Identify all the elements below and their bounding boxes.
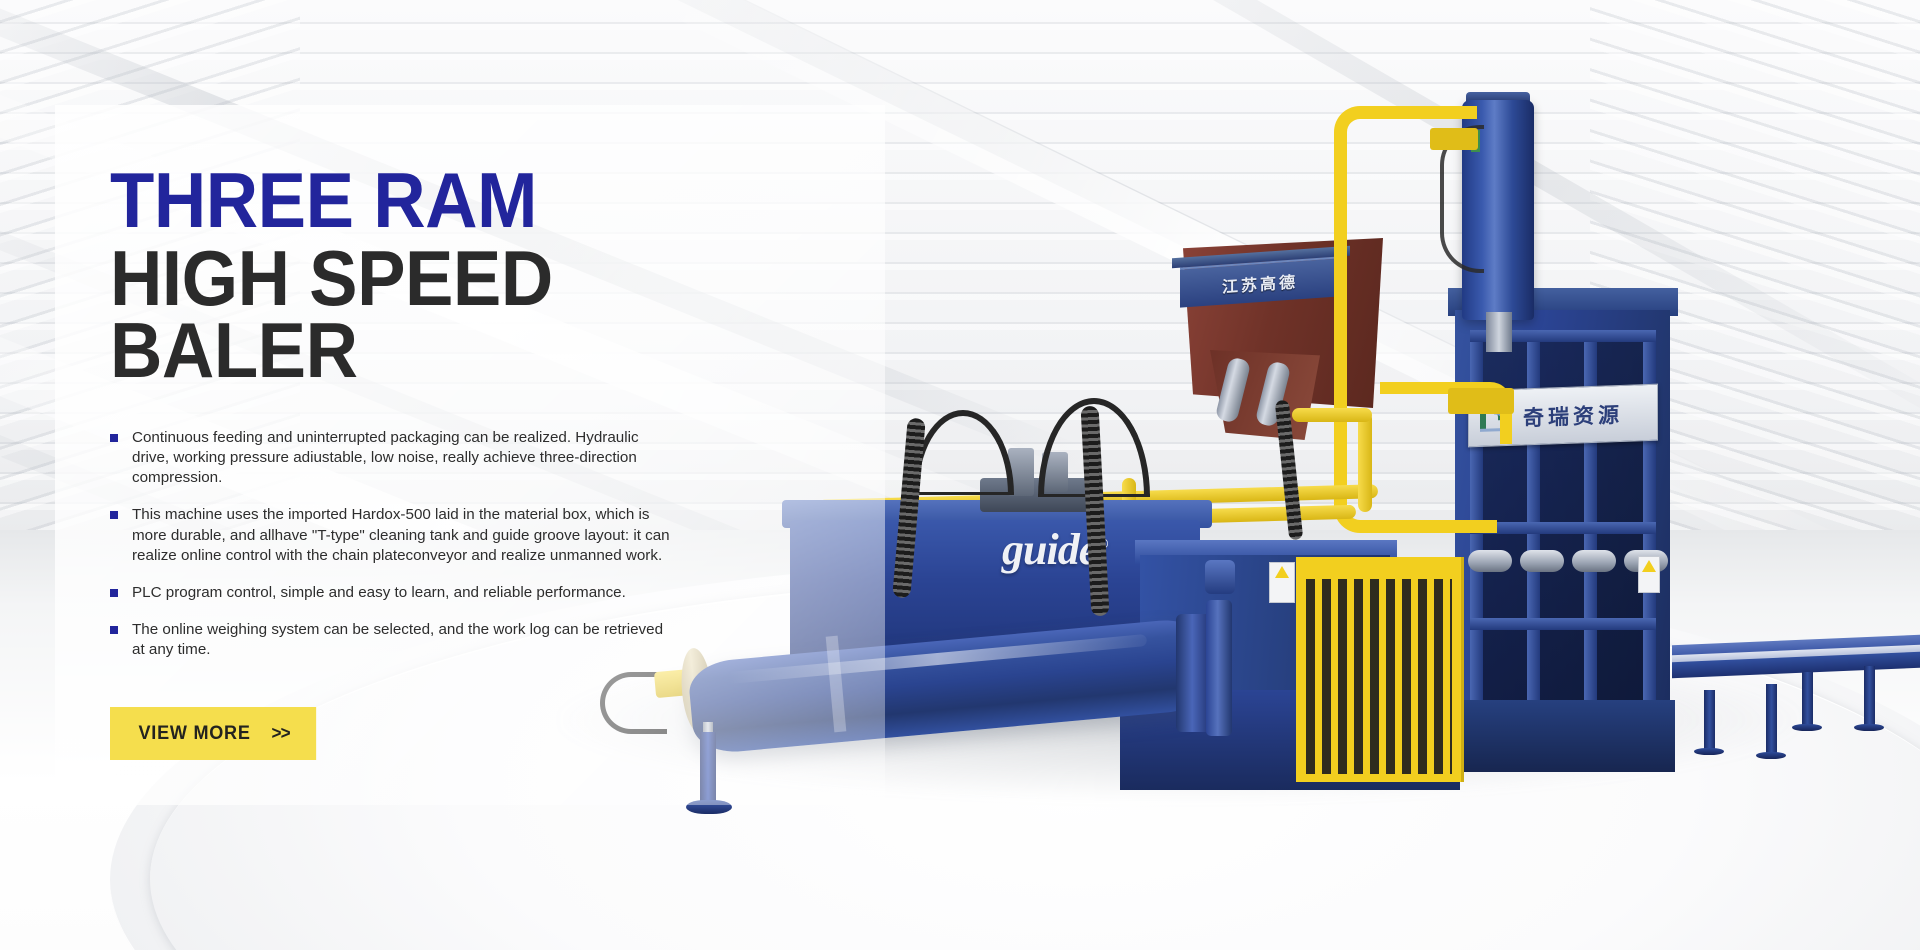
warning-sticker (1638, 556, 1660, 593)
bullet-square-icon (110, 434, 118, 442)
list-item: Continuous feeding and uninterrupted pac… (110, 428, 670, 488)
feature-list: Continuous feeding and uninterrupted pac… (110, 428, 670, 660)
handrail-joint (1430, 128, 1478, 150)
conveyor-leg (1766, 684, 1777, 756)
conveyor-leg (1802, 672, 1813, 728)
list-item: This machine uses the imported Hardox-50… (110, 505, 670, 565)
title-line-primary: THREE RAM (110, 165, 724, 237)
list-item-text: PLC program control, simple and easy to … (132, 584, 626, 601)
hydraulic-hose (912, 410, 1014, 495)
safety-handrail (1334, 106, 1477, 419)
hero-banner: 奇瑞资源 江苏高德 (0, 0, 1920, 950)
conveyor-leg (1864, 666, 1875, 728)
handrail-joint (1448, 388, 1514, 414)
warning-sticker (1269, 562, 1295, 603)
list-item: PLC program control, simple and easy to … (110, 583, 670, 603)
chevron-right-double-icon: >> (272, 723, 290, 744)
list-item: The online weighing system can be select… (110, 620, 670, 660)
list-item-text: Continuous feeding and uninterrupted pac… (132, 429, 639, 486)
machine-brand-text: guide (1002, 525, 1097, 574)
bullet-square-icon (110, 589, 118, 597)
page-title: THREE RAM HIGH SPEED BALER (110, 165, 770, 386)
conveyor-foot (1792, 724, 1822, 731)
hopper-sign-text: 江苏高德 (1222, 268, 1298, 297)
bullet-square-icon (110, 511, 118, 519)
vertical-cylinder-rod (1486, 312, 1512, 352)
pump-knob (1205, 560, 1235, 594)
ram-cylinder-flange (1206, 600, 1232, 736)
conveyor-foot (1694, 748, 1724, 755)
list-item-text: This machine uses the imported Hardox-50… (132, 506, 670, 563)
hero-content: THREE RAM HIGH SPEED BALER Continuous fe… (110, 165, 770, 760)
hydraulic-pipe (1292, 408, 1372, 422)
conveyor-foot (1854, 724, 1884, 731)
machine-body-sign-text: 奇瑞资源 (1523, 398, 1623, 431)
guard-mesh (1306, 579, 1452, 774)
bullet-square-icon (110, 626, 118, 634)
conveyor-foot (1756, 752, 1786, 759)
view-more-button[interactable]: VIEW MORE >> (110, 707, 316, 760)
title-line-secondary: HIGH SPEED BALER (110, 243, 724, 387)
machine-base-right (1460, 700, 1675, 772)
conveyor-leg (1704, 690, 1715, 752)
list-item-text: The online weighing system can be select… (132, 621, 663, 658)
view-more-label: VIEW MORE (139, 723, 251, 745)
perforated-guard-panel (1296, 557, 1464, 782)
hydraulic-pipe-riser (1358, 412, 1372, 512)
